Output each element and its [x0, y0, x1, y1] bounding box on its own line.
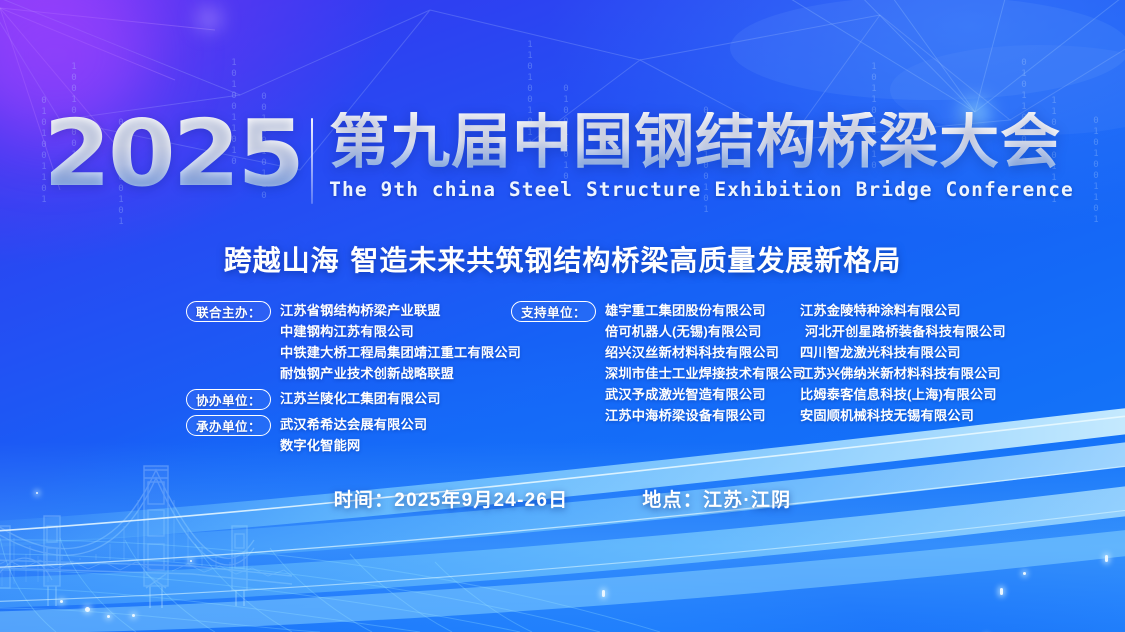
- year-number: 2025: [43, 112, 319, 197]
- list-item: 中建钢构江苏有限公司: [280, 321, 521, 342]
- supporter-list-continued: 江苏金陵特种涂料有限公司 河北开创星路桥装备科技有限公司 四川智龙激光科技有限公…: [800, 300, 1006, 426]
- event-footer: 时间：2025年9月24-26日 地点：江苏·江阴: [0, 485, 1125, 512]
- organizer-group-co-organizers: 协办单位： 江苏兰陵化工集团有限公司: [186, 388, 521, 410]
- list-item: 雄宇重工集团股份有限公司: [605, 300, 806, 321]
- list-item: 江苏省钢结构桥梁产业联盟: [280, 300, 521, 321]
- list-item: 数字化智能网: [280, 435, 427, 456]
- label-supporters: 支持单位：: [511, 301, 596, 322]
- list-item: 河北开创星路桥装备科技有限公司: [800, 321, 1006, 342]
- organizer-column-left: 联合主办： 江苏省钢结构桥梁产业联盟 中建钢构江苏有限公司 中铁建大桥工程局集团…: [186, 300, 521, 460]
- conference-title-en: The 9th china Steel Structure Exhibition…: [329, 178, 1074, 201]
- conference-title-cn: 第九届中国钢结构桥梁大会: [329, 112, 1074, 173]
- conference-slogan: 跨越山海 智造未来共筑钢结构桥梁高质量发展新格局: [0, 239, 1125, 279]
- list-item: 深圳市佳士工业焊接技术有限公司: [605, 363, 806, 384]
- list-item: 武汉予成激光智造有限公司: [605, 384, 806, 405]
- organizers-section: 联合主办： 江苏省钢结构桥梁产业联盟 中建钢构江苏有限公司 中铁建大桥工程局集团…: [0, 300, 1125, 450]
- label-undertakers: 承办单位：: [186, 415, 271, 436]
- organizer-group-undertakers: 承办单位： 武汉希希达会展有限公司 数字化智能网: [186, 414, 521, 456]
- organizer-group-co-hosts: 联合主办： 江苏省钢结构桥梁产业联盟 中建钢构江苏有限公司 中铁建大桥工程局集团…: [186, 300, 521, 384]
- list-item: 中铁建大桥工程局集团靖江重工有限公司: [280, 342, 521, 363]
- co-host-list: 江苏省钢结构桥梁产业联盟 中建钢构江苏有限公司 中铁建大桥工程局集团靖江重工有限…: [280, 300, 521, 384]
- list-item: 武汉希希达会展有限公司: [280, 414, 427, 435]
- title-block: 第九届中国钢结构桥梁大会 The 9th china Steel Structu…: [329, 112, 1074, 201]
- list-item: 倍可机器人(无锡)有限公司: [605, 321, 806, 342]
- list-item: 绍兴汉丝新材料科技有限公司: [605, 342, 806, 363]
- list-item: 比姆泰客信息科技(上海)有限公司: [800, 384, 1006, 405]
- organizer-column-middle: 支持单位： 雄宇重工集团股份有限公司 倍可机器人(无锡)有限公司 绍兴汉丝新材料…: [511, 300, 806, 430]
- label-co-organizers: 协办单位：: [186, 389, 271, 410]
- co-organizer-list: 江苏兰陵化工集团有限公司: [280, 388, 441, 409]
- organizer-column-right: 江苏金陵特种涂料有限公司 河北开创星路桥装备科技有限公司 四川智龙激光科技有限公…: [800, 300, 1006, 426]
- event-location: 地点：江苏·江阴: [642, 485, 791, 512]
- list-item: 安固顺机械科技无锡有限公司: [800, 405, 1006, 426]
- banner-content: 2025 第九届中国钢结构桥梁大会 The 9th china Steel St…: [0, 0, 1125, 632]
- list-item: 江苏兰陵化工集团有限公司: [280, 388, 441, 409]
- list-item: 江苏兴佛纳米新材料科技有限公司: [800, 363, 1006, 384]
- list-item: 江苏中海桥梁设备有限公司: [605, 405, 806, 426]
- conference-banner: 0101001101 1001010011 0110100101 1010011…: [0, 0, 1125, 632]
- label-co-hosts: 联合主办：: [186, 301, 271, 322]
- event-date: 时间：2025年9月24-26日: [334, 485, 569, 512]
- list-item: 耐蚀钢产业技术创新战略联盟: [280, 363, 521, 384]
- list-item: 四川智龙激光科技有限公司: [800, 342, 1006, 363]
- title-row: 2025 第九届中国钢结构桥梁大会 The 9th china Steel St…: [0, 112, 1125, 204]
- supporter-list: 雄宇重工集团股份有限公司 倍可机器人(无锡)有限公司 绍兴汉丝新材料科技有限公司…: [605, 300, 806, 426]
- list-item: 江苏金陵特种涂料有限公司: [800, 300, 1006, 321]
- organizer-group-supporters: 支持单位： 雄宇重工集团股份有限公司 倍可机器人(无锡)有限公司 绍兴汉丝新材料…: [511, 300, 806, 426]
- undertaker-list: 武汉希希达会展有限公司 数字化智能网: [280, 414, 427, 456]
